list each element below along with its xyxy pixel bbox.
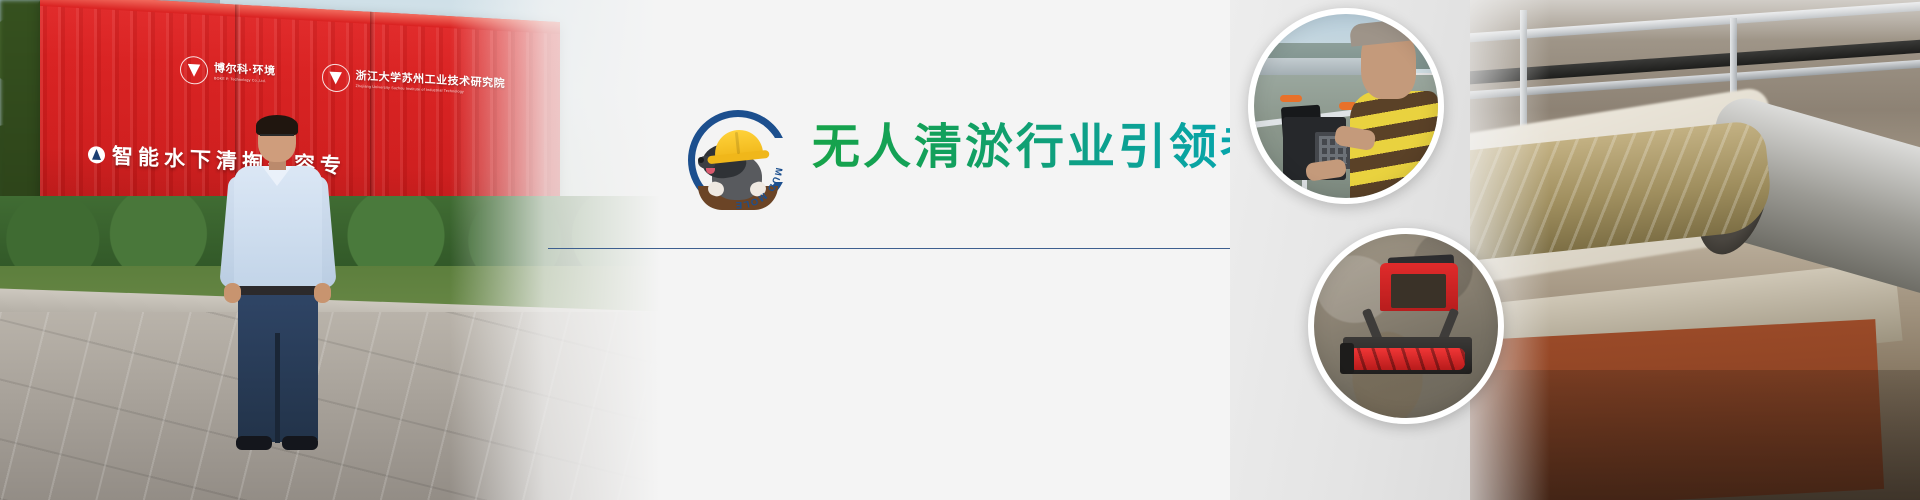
person-hand-right (314, 283, 331, 303)
mud-mole-logo: MUD MOLE (688, 110, 788, 210)
circle-inner-shadow (1314, 234, 1498, 418)
person-engineer (218, 118, 338, 448)
operator-circle-photo (1248, 8, 1444, 204)
right-photo-group (1230, 0, 1920, 500)
person-belt (238, 286, 318, 295)
person-glasses (260, 134, 294, 142)
circle-inner-shadow (1254, 14, 1438, 198)
dredging-robot-circle-photo (1308, 228, 1504, 424)
promotional-banner: 博尔科·环境 BOKE P. Technology Co.,Ltd. 浙江大学苏… (0, 0, 1920, 500)
center-content: MUD MOLE 无人清淤行业引领者 (640, 0, 1260, 500)
person-hair (256, 115, 298, 136)
boke-logo-icon (180, 56, 208, 86)
person-shoe-left (236, 436, 272, 450)
mole-nose (698, 157, 704, 163)
slogan-badge-icon (88, 145, 105, 163)
left-photo: 博尔科·环境 BOKE P. Technology Co.,Ltd. 浙江大学苏… (0, 0, 660, 500)
person-leg-gap (275, 333, 280, 443)
person-hand-left (224, 283, 241, 303)
left-photo-fade (450, 0, 660, 500)
container-seam (370, 12, 375, 224)
zju-logo-icon (322, 63, 350, 93)
boke-brand-name: 博尔科·环境 BOKE P. Technology Co.,Ltd. (214, 62, 276, 84)
person-shoe-right (282, 436, 318, 450)
page-title: 无人清淤行业引领者 (812, 122, 1271, 175)
